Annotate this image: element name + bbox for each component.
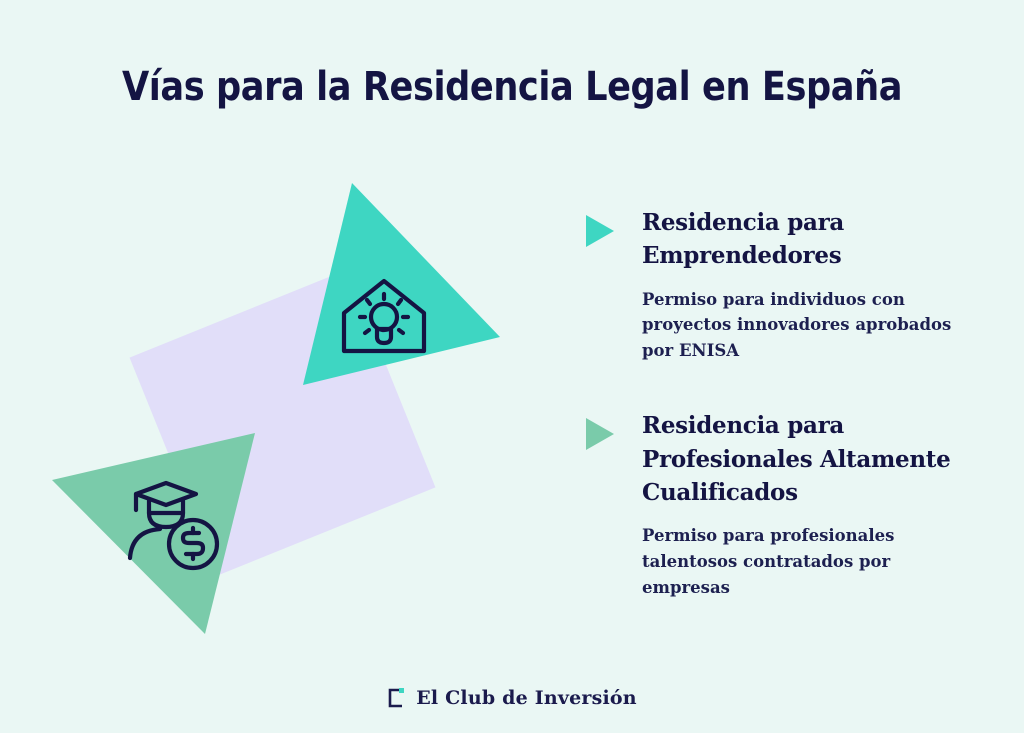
list-item-body: Residencia para Profesionales Altamente … <box>642 409 986 600</box>
list-item-title: Residencia para Profesionales Altamente … <box>642 409 986 509</box>
list-item-title: Residencia para Emprendedores <box>642 206 986 273</box>
list-item-body: Residencia para Emprendedores Permiso pa… <box>642 206 986 363</box>
graphic-composition <box>20 165 540 655</box>
footer-brand: El Club de Inversión <box>0 687 1024 709</box>
list-item: Residencia para Emprendedores Permiso pa… <box>586 206 986 363</box>
infographic-page: Vías para la Residencia Legal en España <box>0 0 1024 733</box>
list-item-description: Permiso para profesionales talentosos co… <box>642 523 972 600</box>
bracket-dot-logo-icon <box>387 687 407 709</box>
triangle-right-icon <box>586 215 614 247</box>
list-item-description: Permiso para individuos con proyectos in… <box>642 287 972 364</box>
list-item: Residencia para Profesionales Altamente … <box>586 409 986 600</box>
triangle-top <box>303 183 500 385</box>
pathways-list: Residencia para Emprendedores Permiso pa… <box>586 206 986 626</box>
brand-name: El Club de Inversión <box>416 687 637 709</box>
page-title: Vías para la Residencia Legal en España <box>61 64 962 110</box>
triangle-bottom <box>52 433 255 634</box>
triangle-right-icon <box>586 418 614 450</box>
